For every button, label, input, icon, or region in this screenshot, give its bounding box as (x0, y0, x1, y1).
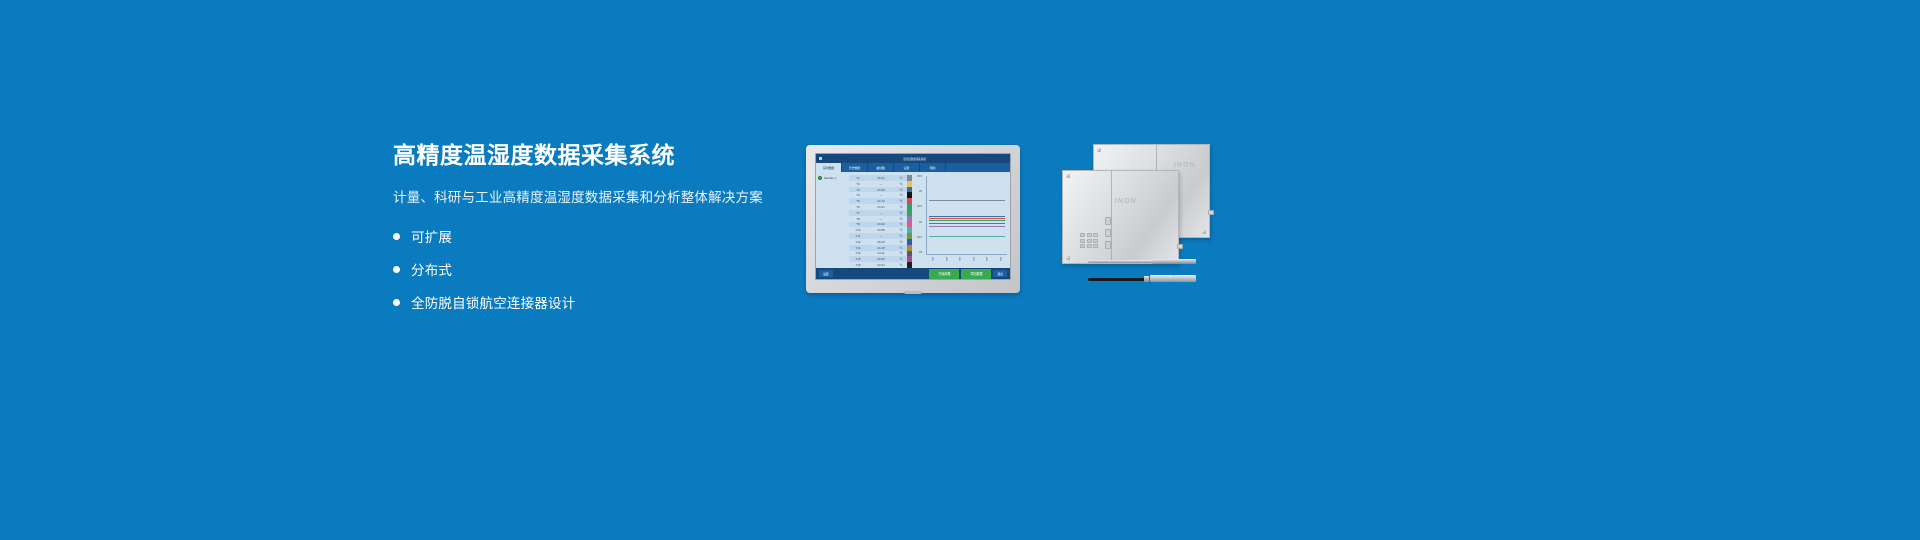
terminal-cell (1087, 233, 1092, 237)
app-footer: 设置 开始采集 导出数据 退出 (816, 268, 1010, 279)
tab-settings[interactable]: 设置 (894, 163, 920, 172)
settings-button[interactable]: 设置 (819, 270, 833, 277)
status-led-icon (818, 176, 822, 180)
x-tick-label: 10:40 (985, 257, 988, 267)
channel-value: 25.00 (866, 240, 896, 244)
terminal-cell (1080, 233, 1085, 237)
channel-value: --- (866, 193, 896, 197)
terminal-cell (1080, 244, 1085, 248)
channel-label: T1 (850, 176, 866, 180)
bullet-dot-icon (393, 233, 400, 240)
channel-unit: ℃ (896, 176, 906, 180)
terminal-cell (1087, 244, 1092, 248)
channel-label: T2 (850, 182, 866, 186)
channel-label: T4 (850, 193, 866, 197)
connector-port (1208, 210, 1214, 215)
list-item: 全防脱自锁航空连接器设计 (393, 292, 813, 312)
feature-label: 分布式 (411, 259, 452, 279)
export-data-button[interactable]: 导出数据 (961, 269, 991, 279)
channel-unit: ℃ (896, 228, 906, 232)
channel-value: --- (866, 234, 896, 238)
monitor-screen: 温湿度数据采集系统 实时数据 历史数据 曲线图 设置 帮助 Module 1 (816, 154, 1010, 279)
start-capture-button[interactable]: 开始采集 (929, 269, 959, 279)
channel-value: 24.72 (866, 199, 896, 203)
channel-value: --- (866, 182, 896, 186)
feature-list: 可扩展 分布式 全防脱自锁航空连接器设计 (393, 226, 813, 312)
channel-label: T15 (850, 257, 866, 261)
y-tick-label: 23 (913, 251, 922, 254)
channel-label: T14 (850, 251, 866, 255)
channel-label: T6 (850, 205, 866, 209)
channel-unit: ℃ (896, 193, 906, 197)
terminal-cell (1093, 244, 1098, 248)
page-subtitle: 计量、科研与工业高精度温湿度数据采集和分析整体解决方案 (393, 186, 813, 206)
channel-label: T12 (850, 240, 866, 244)
menu-dot-icon[interactable] (819, 157, 822, 160)
brand-logo: INON (1115, 198, 1137, 205)
channel-value: 24.11 (866, 251, 896, 255)
probe-tip (1174, 275, 1196, 282)
bullet-dot-icon (393, 299, 400, 306)
aviation-connector-port (1105, 229, 1111, 237)
channel-value: 24.61 (866, 205, 896, 209)
channel-table: T125.01℃T2---℃T324.99℃T4---℃T524.72℃T624… (849, 172, 907, 268)
x-tick-label: 10:10 (945, 257, 948, 267)
terminal-cell (1093, 233, 1098, 237)
channel-value: 25.01 (866, 176, 896, 180)
channel-label: T8 (850, 217, 866, 221)
y-tick-label: 25.5 (913, 175, 922, 178)
tab-help[interactable]: 帮助 (920, 163, 946, 172)
aviation-connector-port (1105, 217, 1111, 225)
channel-unit: ℃ (896, 211, 906, 215)
sidebar-item-label: Module 1 (824, 176, 836, 180)
port-column (1105, 217, 1111, 249)
module-sidebar: Module 1 (816, 172, 849, 268)
monitor-device: 温湿度数据采集系统 实时数据 历史数据 曲线图 设置 帮助 Module 1 (806, 145, 1020, 293)
probe-sleeve (1152, 259, 1196, 264)
chart-series-line (929, 216, 1006, 217)
x-tick-label: 10:00 (931, 257, 934, 267)
probe-nut (1144, 276, 1149, 282)
channel-label: T5 (850, 199, 866, 203)
channel-value: 24.99 (866, 188, 896, 192)
aviation-connector-port (1105, 241, 1111, 249)
channel-value: 24.88 (866, 228, 896, 232)
terminal-cell (1093, 239, 1098, 243)
channel-unit: ℃ (896, 257, 906, 261)
channel-unit: ℃ (896, 234, 906, 238)
banner-copy: 高精度温湿度数据采集系统 计量、科研与工业高精度温湿度数据采集和分析整体解决方案… (393, 143, 813, 325)
channel-value: 24.28 (866, 246, 896, 250)
channel-unit: ℃ (896, 217, 906, 221)
app-body: Module 1 T125.01℃T2---℃T324.99℃T4---℃T52… (816, 172, 1010, 268)
app-title: 温湿度数据采集系统 (831, 157, 998, 161)
channel-unit: ℃ (896, 199, 906, 203)
feature-label: 全防脱自锁航空连接器设计 (411, 292, 575, 312)
channel-label: T9 (850, 222, 866, 226)
terminal-cell (1087, 239, 1092, 243)
chart-y-axis: 25.52524.52423.523 (913, 175, 922, 254)
channel-value: --- (866, 211, 896, 215)
monitor-stand (904, 291, 922, 294)
terminal-cell (1080, 239, 1085, 243)
channel-unit: ℃ (896, 240, 906, 244)
brand-logo: INON (1174, 162, 1196, 169)
channel-unit: ℃ (896, 263, 906, 267)
monitor-bezel: 温湿度数据采集系统 实时数据 历史数据 曲线图 设置 帮助 Module 1 (815, 153, 1011, 280)
screw-icon (1066, 256, 1070, 260)
channel-label: T13 (850, 246, 866, 250)
channel-label: T7 (850, 211, 866, 215)
chart-series-line (929, 223, 1006, 224)
product-banner: 高精度温湿度数据采集系统 计量、科研与工业高精度温湿度数据采集和分析整体解决方案… (0, 0, 1920, 540)
channel-label: T3 (850, 188, 866, 192)
connector-port (1177, 244, 1183, 249)
screw-icon (1097, 148, 1101, 152)
tab-curve[interactable]: 曲线图 (868, 163, 894, 172)
channel-value: 24.90 (866, 222, 896, 226)
y-tick-label: 25 (913, 190, 922, 193)
terminal-block-grid (1080, 233, 1098, 248)
channel-value: 24.90 (866, 257, 896, 261)
channel-unit: ℃ (896, 246, 906, 250)
trend-chart: 25.52524.52423.523 10:0010:1010:2010:301… (912, 172, 1010, 268)
y-tick-label: 24.5 (913, 205, 922, 208)
tab-bar: 实时数据 历史数据 曲线图 设置 帮助 (816, 163, 1010, 172)
tab-bar-filler (946, 163, 1010, 172)
chart-series-line (929, 218, 1006, 219)
channel-label: T16 (850, 263, 866, 267)
exit-button[interactable]: 退出 (993, 270, 1007, 277)
screw-icon (1066, 174, 1070, 178)
sidebar-item-module-1[interactable]: Module 1 (818, 176, 847, 180)
channel-unit: ℃ (896, 251, 906, 255)
list-item: 可扩展 (393, 226, 813, 246)
channel-unit: ℃ (896, 222, 906, 226)
probe-housing (1150, 275, 1174, 282)
sensor-probes (1088, 258, 1208, 298)
chart-series-line (929, 226, 1006, 227)
app-titlebar: 温湿度数据采集系统 (816, 154, 1010, 163)
y-tick-label: 24 (913, 221, 922, 224)
channel-value: --- (866, 217, 896, 221)
channel-unit: ℃ (896, 182, 906, 186)
chart-series-line (929, 236, 1006, 237)
page-title: 高精度温湿度数据采集系统 (393, 143, 813, 168)
channel-unit: ℃ (896, 205, 906, 209)
tab-history[interactable]: 历史数据 (842, 163, 868, 172)
feature-label: 可扩展 (411, 226, 452, 246)
x-tick-label: 10:50 (999, 257, 1002, 267)
y-tick-label: 23.5 (913, 236, 922, 239)
x-tick-label: 10:30 (972, 257, 975, 267)
chart-x-axis: 10:0010:1010:2010:3010:4010:50 (926, 255, 1007, 268)
channel-unit: ℃ (896, 188, 906, 192)
enclosure-front-unit: INON (1062, 170, 1179, 264)
channel-label: T10 (850, 228, 866, 232)
chart-series-line (929, 220, 1006, 221)
chart-series-line (929, 200, 1006, 201)
screw-icon (1202, 230, 1206, 234)
panel-seam (1111, 171, 1112, 263)
channel-value: 24.94 (866, 263, 896, 267)
list-item: 分布式 (393, 259, 813, 279)
bullet-dot-icon (393, 266, 400, 273)
x-tick-label: 10:20 (958, 257, 961, 267)
probe-cable (1088, 278, 1146, 281)
tab-realtime[interactable]: 实时数据 (816, 163, 842, 172)
channel-label: T11 (850, 234, 866, 238)
chart-plot-area (926, 176, 1007, 255)
